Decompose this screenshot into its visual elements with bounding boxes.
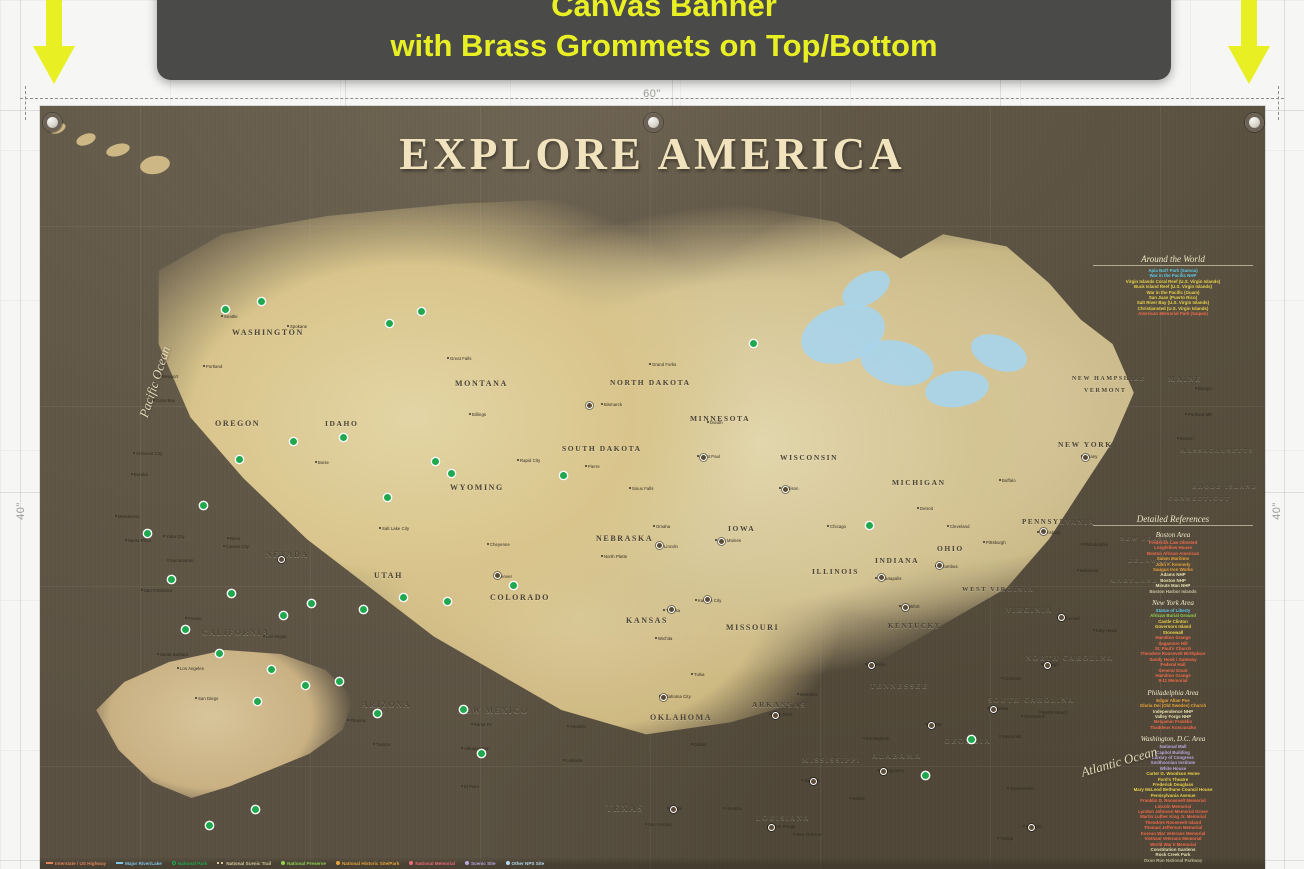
state-capital-marker (990, 706, 997, 713)
ruler-guide-v (20, 0, 21, 869)
national-park-marker (252, 806, 259, 813)
arrow-shaft (46, 0, 62, 52)
state-label: KANSAS (626, 616, 668, 625)
state-label: NEVADA (266, 550, 309, 559)
state-capital-marker (1044, 662, 1051, 669)
state-capital-marker (782, 486, 789, 493)
national-park-marker (400, 594, 407, 601)
city-label: Mobile (852, 796, 865, 801)
state-label: ARIZONA (362, 700, 411, 709)
state-label: SOUTH DAKOTA (562, 444, 642, 453)
state-capital-marker (670, 806, 677, 813)
state-label: TENNESSEE (870, 681, 929, 690)
national-park-marker (336, 678, 343, 685)
reference-item[interactable]: Thaddeus Kosciuszko (1093, 725, 1253, 730)
state-label: MASSACHUSETTS (1180, 448, 1254, 454)
national-park-marker (444, 598, 451, 605)
state-label: WYOMING (450, 483, 504, 492)
national-park-marker (384, 494, 391, 501)
legend-entry: National Scenic Trail (217, 861, 271, 866)
arrow-head (1228, 46, 1270, 84)
national-park-marker (268, 666, 275, 673)
city-label: Coos Bay (156, 398, 175, 403)
legend-entry: National Memorial (409, 861, 455, 866)
national-park-marker (510, 582, 517, 589)
dimension-width-label: 60" (0, 88, 1304, 100)
state-label: CONNECTICUT (1168, 496, 1231, 502)
legend-label: Interstate / US Highway (55, 861, 106, 866)
state-label: NEBRASKA (596, 534, 653, 543)
reference-subheading: New York Area (1093, 599, 1253, 607)
state-label: MISSISSIPPI (802, 756, 861, 764)
dimension-height-label-left: 40" (15, 502, 27, 520)
state-label: IDAHO (325, 419, 358, 428)
ruler-guide-v (1284, 0, 1285, 869)
reference-panel-heading: Detailed References (1093, 514, 1253, 526)
state-label: OREGON (215, 419, 260, 428)
reference-item[interactable]: Boston Harbor Islands (1093, 589, 1253, 594)
state-capital-marker (902, 604, 909, 611)
city-label: Cheyenne (490, 542, 510, 547)
city-label: Pierre (588, 464, 600, 469)
state-label: IOWA (728, 524, 755, 533)
legend-label: National Memorial (415, 861, 455, 866)
city-label: Phoenix (350, 718, 366, 723)
arrow-head (33, 46, 75, 84)
legend-entry: National Historic Site/Park (336, 861, 399, 866)
city-label: Houston (726, 806, 742, 811)
national-park-marker (206, 822, 213, 829)
state-capital-marker (868, 662, 875, 669)
state-label: WASHINGTON (232, 328, 304, 337)
legend-swatch-dot (281, 861, 285, 865)
city-label: Savannah (1002, 734, 1022, 739)
reference-item[interactable]: American Memorial Park (Saipan) (1093, 311, 1253, 316)
state-label: ARKANSAS (752, 700, 806, 709)
city-label: Carson City (226, 544, 249, 549)
state-label: NEW HAMPSHIRE (1072, 376, 1146, 382)
city-label: Billings (472, 412, 486, 417)
legend-swatch-ring (172, 861, 176, 865)
legend-swatch-line (116, 862, 123, 864)
state-capital-marker (656, 542, 663, 549)
legend-label: Scenic Site (471, 861, 496, 866)
national-park-marker (340, 434, 347, 441)
state-label: WISCONSIN (780, 453, 838, 462)
legend-label: National Historic Site/Park (342, 861, 399, 866)
legend-swatch-dot (506, 861, 510, 865)
grommet-pointer-arrow-right (1228, 0, 1270, 86)
state-label: LOUISIANA (756, 814, 810, 822)
national-park-marker (144, 530, 151, 537)
grommet-pointer-arrow-left (33, 0, 75, 86)
state-capital-marker (660, 694, 667, 701)
design-preview-stage: 60" 40" 40" Canvas Banner with Brass Gro… (0, 0, 1304, 869)
city-label: Lincoln (664, 544, 678, 549)
city-label: Eureka (134, 472, 148, 477)
callout-line-1: Canvas Banner (551, 0, 777, 26)
national-park-marker (968, 736, 975, 743)
state-capital-marker (772, 712, 779, 719)
city-label: Buffalo (1002, 478, 1016, 483)
city-label: Cleveland (950, 524, 970, 529)
map-legend: Interstate / US HighwayMajor River/LakeN… (40, 857, 1265, 869)
legend-swatch-dot (465, 861, 469, 865)
state-capital-marker (1082, 454, 1089, 461)
reference-panel: Around the WorldApia Nat'l Park (Samoa)W… (1093, 254, 1253, 317)
state-label: WEST VIRGINIA (962, 586, 1034, 593)
state-capital-marker (928, 722, 935, 729)
city-label: Albuquerque (464, 746, 489, 751)
legend-swatch-dot (409, 861, 413, 865)
legend-label: Other NPS Site (512, 861, 545, 866)
state-label: PENNSYLVANIA (1022, 518, 1095, 526)
city-label: Grand Forks (652, 362, 676, 367)
city-label: Portland (206, 364, 222, 369)
national-park-marker (290, 438, 297, 445)
national-park-marker (374, 710, 381, 717)
national-park-marker (182, 626, 189, 633)
national-park-marker (222, 306, 229, 313)
reference-subheading: Philadelphia Area (1093, 689, 1253, 697)
city-label: San Diego (198, 696, 218, 701)
state-capital-marker (936, 562, 943, 569)
legend-entry: National Preserve (281, 861, 326, 866)
legend-entry: Major River/Lake (116, 861, 162, 866)
national-park-marker (460, 706, 467, 713)
reference-subheading: Boston Area (1093, 531, 1253, 539)
brass-grommet-top-right (1245, 113, 1264, 132)
national-park-marker (308, 600, 315, 607)
state-capital-marker (810, 778, 817, 785)
city-label: Boston (1180, 436, 1194, 441)
state-capital-marker (1058, 614, 1065, 621)
map-title: EXPLORE AMERICA (40, 128, 1265, 180)
reference-panel-heading: Around the World (1093, 254, 1253, 266)
reference-item[interactable]: 9-11 Memorial (1093, 678, 1253, 683)
national-park-marker (216, 650, 223, 657)
national-park-marker (386, 320, 393, 327)
product-callout-banner: Canvas Banner with Brass Grommets on Top… (157, 0, 1171, 80)
city-label: Jacksonville (1010, 786, 1034, 791)
reference-subheading: Washington, D.C. Area (1093, 735, 1253, 743)
dimension-height-label-right: 40" (1271, 502, 1283, 520)
city-label: Crescent City (136, 451, 162, 456)
city-label: New Orleans (796, 832, 821, 837)
national-park-marker (432, 458, 439, 465)
state-label: VERMONT (1084, 388, 1127, 394)
state-label: NORTH DAKOTA (610, 378, 691, 387)
legend-entry: National Park (172, 861, 207, 866)
state-capital-marker (704, 596, 711, 603)
city-label: Great Falls (450, 356, 472, 361)
state-label: MICHIGAN (892, 478, 946, 487)
city-label: Amarillo (570, 724, 586, 729)
national-park-marker (168, 576, 175, 583)
city-label: Yuba City (166, 534, 185, 539)
state-label: VIRGINIA (1006, 606, 1053, 614)
national-park-marker (922, 772, 929, 779)
state-capital-marker (586, 402, 593, 409)
city-label: Spokane (290, 324, 307, 329)
city-label: El Paso (464, 784, 479, 789)
national-park-marker (478, 750, 485, 757)
city-label: Tulsa (694, 672, 705, 677)
brass-grommet-top-left (43, 113, 62, 132)
city-label: Wichita (658, 636, 672, 641)
state-label: KENTUCKY (888, 622, 941, 630)
state-label: ILLINOIS (812, 567, 859, 576)
city-label: Portland ME (1188, 412, 1212, 417)
national-park-marker (200, 502, 207, 509)
city-label: San Antonio (648, 822, 672, 827)
national-park-marker (280, 612, 287, 619)
city-label: San Francisco (144, 588, 172, 593)
state-label: MISSOURI (726, 623, 779, 632)
national-park-marker (448, 470, 455, 477)
city-label: Bangor (1198, 386, 1212, 391)
state-label: ALABAMA (872, 751, 922, 760)
brass-grommet-top-center (644, 113, 663, 132)
state-capital-marker (768, 824, 775, 831)
city-label: North Platte (604, 554, 627, 559)
legend-label: National Preserve (287, 861, 326, 866)
legend-swatch-dot (336, 861, 340, 865)
state-label: MONTANA (455, 379, 508, 388)
city-label: Tucson (376, 742, 390, 747)
city-label: Lubbock (566, 758, 583, 763)
state-label: COLORADO (490, 593, 550, 602)
state-label: OKLAHOMA (650, 713, 712, 722)
legend-label: Major River/Lake (125, 861, 162, 866)
city-label: Santa Barbara (160, 652, 188, 657)
explore-america-map[interactable]: EXPLORE AMERICA WASHINGTONOREGONMONTANAI… (40, 106, 1265, 869)
national-park-marker (560, 472, 567, 479)
national-park-marker (236, 456, 243, 463)
national-park-marker (302, 682, 309, 689)
state-label: MAINE (1168, 374, 1202, 383)
state-capital-marker (700, 454, 707, 461)
national-park-marker (866, 522, 873, 529)
city-label: Santa Fe (474, 722, 492, 727)
state-label: SOUTH CAROLINA (988, 696, 1075, 704)
national-park-marker (254, 698, 261, 705)
state-capital-marker (1028, 824, 1035, 831)
city-label: Chicago (830, 524, 846, 529)
city-label: Seattle (224, 314, 238, 319)
city-label: Los Angeles (180, 666, 204, 671)
callout-line-2: with Brass Grommets on Top/Bottom (390, 26, 937, 66)
state-label: OHIO (937, 544, 964, 553)
city-label: Dallas (694, 742, 706, 747)
city-label: Birmingham (866, 736, 889, 741)
city-label: Sacramento (170, 558, 194, 563)
state-label: TEXAS (606, 803, 644, 813)
national-park-marker (258, 298, 265, 305)
legend-entry: Interstate / US Highway (46, 861, 106, 866)
national-park-marker (418, 308, 425, 315)
city-label: Sioux Falls (632, 486, 654, 491)
city-label: Bismarck (604, 402, 622, 407)
city-label: Detroit (920, 506, 933, 511)
state-capital-marker (880, 768, 887, 775)
reference-panel: Detailed ReferencesBoston AreaFrederick … (1093, 514, 1253, 869)
city-label: Salt Lake City (382, 526, 409, 531)
arrow-shaft (1241, 0, 1257, 52)
state-capital-marker (1040, 528, 1047, 535)
city-label: Boise (318, 460, 329, 465)
legend-entry: Scenic Site (465, 861, 496, 866)
legend-swatch-line (46, 862, 53, 864)
city-label: Tampa (1000, 836, 1013, 841)
national-park-marker (750, 340, 757, 347)
state-label: NEW YORK (1058, 440, 1113, 449)
state-capital-marker (494, 572, 501, 579)
legend-entry: Other NPS Site (506, 861, 545, 866)
city-label: Duluth (710, 420, 723, 425)
state-label: NEW MEXICO (458, 706, 529, 715)
state-label: CALIFORNIA (202, 628, 270, 637)
city-label: Memphis (800, 692, 818, 697)
legend-label: National Scenic Trail (226, 861, 271, 866)
city-label: Myrtle Beach (1042, 710, 1068, 715)
city-label: Santa Rosa (128, 538, 151, 543)
legend-label: National Park (178, 861, 207, 866)
city-label: Omaha (656, 524, 670, 529)
city-label: Fresno (188, 616, 202, 621)
state-label: RHODE ISLAND (1192, 484, 1257, 490)
city-label: Mendocino (118, 514, 139, 519)
legend-swatch-dash (217, 862, 224, 864)
city-label: Charlotte (1004, 676, 1022, 681)
state-capital-marker (668, 606, 675, 613)
state-label: INDIANA (875, 556, 919, 565)
national-park-marker (360, 606, 367, 613)
national-park-marker (228, 590, 235, 597)
state-capital-marker (278, 556, 285, 563)
city-label: Reno (230, 536, 240, 541)
city-label: Las Vegas (266, 634, 286, 639)
state-label: UTAH (374, 571, 403, 580)
city-label: Pittsburgh (986, 540, 1006, 545)
state-capital-marker (718, 538, 725, 545)
state-capital-marker (878, 574, 885, 581)
city-label: Rapid City (520, 458, 540, 463)
